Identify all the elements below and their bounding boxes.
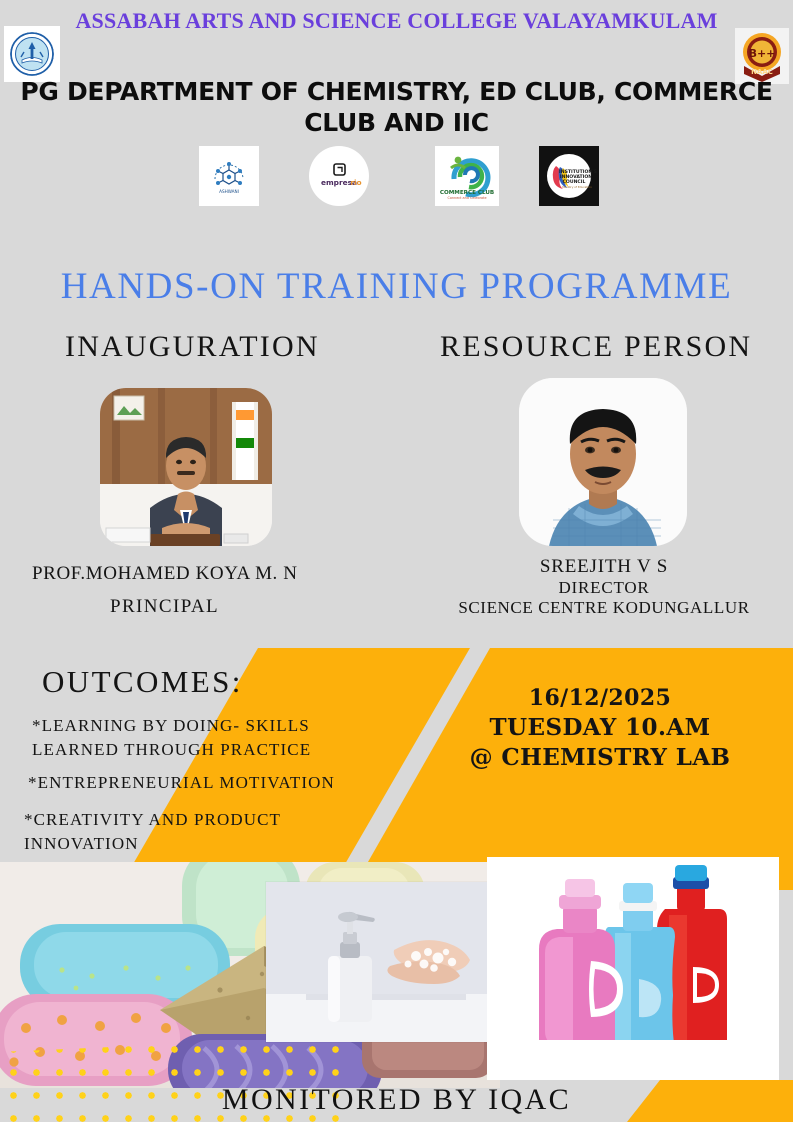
event-day-time: TUESDAY 10.AM [450,713,750,743]
organiser-logo-strip: ASHWANI empresa rio COMMERCE CLUB Connec… [0,146,793,208]
principal-portrait-photo [100,388,272,546]
principal-name: PROF.MOHAMED KOYA M. N [32,563,298,585]
inauguration-heading: INAUGURATION [65,330,320,364]
event-venue: @ CHEMISTRY LAB [450,743,750,773]
college-name: ASSABAH ARTS AND SCIENCE COLLEGE VALAYAM… [0,8,793,34]
programme-title: HANDS-ON TRAINING PROGRAMME [0,265,793,308]
iic-logo-icon: INSTITUTION'S INNOVATION COUNCIL Ministr… [539,146,599,206]
resource-person-name: SREEJITH V S [519,556,689,578]
outcomes-heading: OUTCOMES: [42,664,243,700]
outcome-item: *CREATIVITY AND PRODUCT INNOVATION [24,808,354,856]
ed-club-empresario-logo-icon: empresa rio [309,146,369,206]
poster-root: ASSABAH ARTS AND SCIENCE COLLEGE VALAYAM… [0,0,793,1122]
svg-text:B++: B++ [749,47,776,60]
soap-dispenser-photo [266,882,488,1042]
bottles-photo-base [487,1040,779,1080]
college-crest-icon [4,26,60,82]
resource-person-designation: DIRECTOR [519,578,689,598]
svg-text:ASHWANI: ASHWANI [219,189,239,194]
resource-person-heading: RESOURCE PERSON [440,330,752,364]
chemistry-department-logo-icon: ASHWANI [199,146,259,206]
svg-text:Connect and Celebrate: Connect and Celebrate [447,196,486,200]
outcome-item: *ENTREPRENEURIAL MOTIVATION [28,771,408,795]
svg-text:NAAC: NAAC [751,68,773,76]
svg-text:Ministry of Education: Ministry of Education [562,185,592,189]
principal-role: PRINCIPAL [110,596,219,618]
event-date: 16/12/2025 [450,683,750,713]
event-details-block: 16/12/2025 TUESDAY 10.AM @ CHEMISTRY LAB [450,683,750,773]
outcome-item: *LEARNING BY DOING- SKILLS LEARNED THROU… [32,714,392,762]
resource-person-organisation: SCIENCE CENTRE KODUNGALLUR [443,598,765,618]
svg-text:rio: rio [350,178,361,187]
commerce-club-logo-icon: COMMERCE CLUB Connect and Celebrate [435,146,499,206]
resource-person-portrait-photo [519,378,687,546]
department-title: PG DEPARTMENT OF CHEMISTRY, ED CLUB, COM… [20,76,773,138]
monitored-by-footer: MONITORED BY IQAC [0,1083,793,1117]
